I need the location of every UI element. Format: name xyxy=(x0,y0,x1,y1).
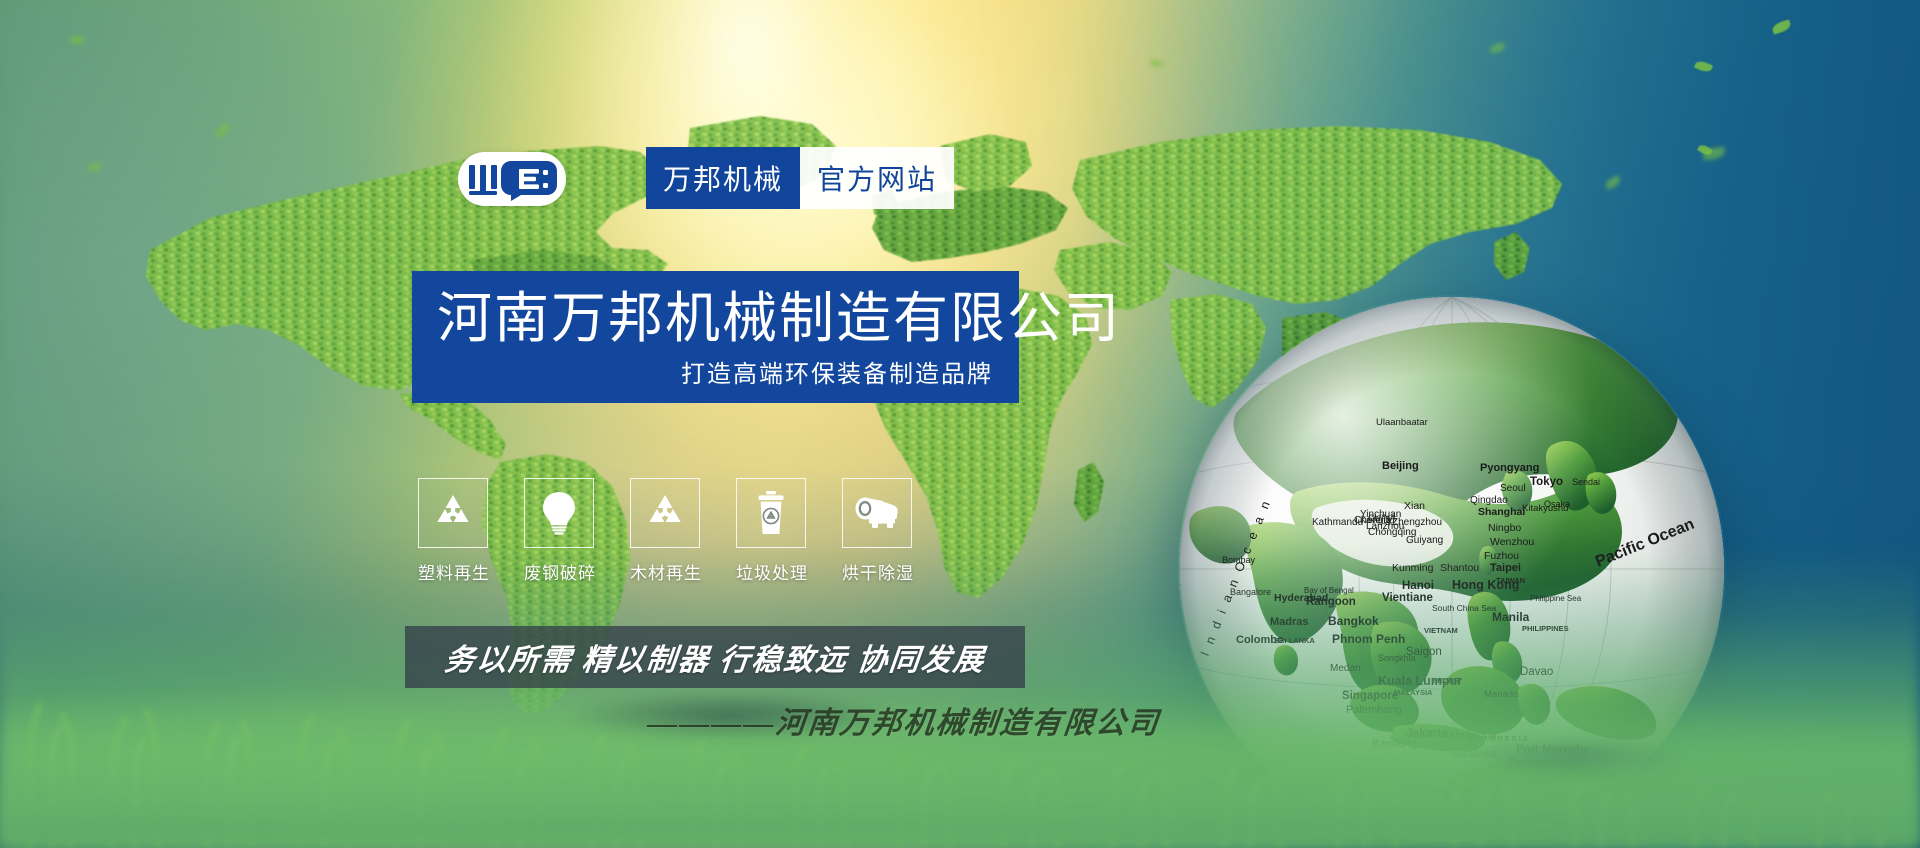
svg-text:Wenzhou: Wenzhou xyxy=(1490,536,1534,548)
brand-tabs[interactable]: 万邦机械 官方网站 xyxy=(646,147,954,209)
lightbulb-icon xyxy=(539,490,579,536)
service-label: 废钢破碎 xyxy=(524,559,594,584)
dryer-blower-icon xyxy=(853,496,901,530)
tab-company-name[interactable]: 万邦机械 xyxy=(646,147,800,209)
service-label: 塑料再生 xyxy=(418,559,488,584)
svg-text:Shanghai: Shanghai xyxy=(1478,506,1525,518)
svg-text:Sendai: Sendai xyxy=(1572,477,1600,487)
service-item-drying-dehumidifying[interactable]: 烘干除湿 xyxy=(842,478,912,584)
tab-official-site[interactable]: 官方网站 xyxy=(800,147,954,209)
svg-text:Beijing: Beijing xyxy=(1382,460,1419,472)
service-label: 垃圾处理 xyxy=(736,559,806,584)
slogan-attribution: ————河南万邦机械制造有限公司 xyxy=(646,698,1171,742)
slogan-banner: 务以所需 精以制器 行稳致远 协同发展 xyxy=(405,626,1025,688)
svg-text:Ulaanbaatar: Ulaanbaatar xyxy=(1376,417,1428,428)
service-icon-box[interactable] xyxy=(842,478,912,548)
service-icon-box[interactable] xyxy=(630,478,700,548)
svg-text:Kathmandu: Kathmandu xyxy=(1312,517,1363,528)
logo-b-bubble xyxy=(501,161,557,201)
service-icon-row: 塑料再生 废钢破碎 xyxy=(418,478,912,584)
service-item-plastic-recycling[interactable]: 塑料再生 xyxy=(418,478,488,584)
slogan-text: 务以所需 精以制器 行稳致远 协同发展 xyxy=(442,635,987,679)
svg-text:Ningbo: Ningbo xyxy=(1488,522,1521,534)
service-icon-box[interactable] xyxy=(524,478,594,548)
logo-bar[interactable] xyxy=(458,152,566,206)
hero-title: 河南万邦机械制造有限公司 xyxy=(437,291,1121,346)
service-icon-box[interactable] xyxy=(736,478,806,548)
logo-w-glyph xyxy=(469,165,497,195)
hero-subtitle: 打造高端环保装备制造品牌 xyxy=(681,363,993,387)
hero-title-text: 河南万邦机械制造有限公司 打造高端环保装备制造品牌 xyxy=(412,271,1019,403)
service-label: 木材再生 xyxy=(630,559,700,584)
service-item-wood-recycling[interactable]: 木材再生 xyxy=(630,478,700,584)
recycle-icon xyxy=(431,491,475,535)
svg-text:Pyongyang: Pyongyang xyxy=(1480,462,1539,474)
service-item-scrap-steel-crushing[interactable]: 废钢破碎 xyxy=(524,478,594,584)
trash-bin-icon xyxy=(754,490,788,536)
recycle-icon xyxy=(643,491,687,535)
service-item-waste-treatment[interactable]: 垃圾处理 xyxy=(736,478,806,584)
svg-text:Qingdao: Qingdao xyxy=(1470,495,1508,506)
svg-text:Guiyang: Guiyang xyxy=(1406,535,1443,546)
svg-text:Tokyo: Tokyo xyxy=(1530,476,1563,488)
svg-text:Seoul: Seoul xyxy=(1500,483,1526,494)
svg-text:Kitakyushu: Kitakyushu xyxy=(1522,503,1568,514)
service-label: 烘干除湿 xyxy=(842,559,912,584)
svg-text:Xian: Xian xyxy=(1404,500,1425,512)
hero-banner: Ulaanbaatar Beijing Pyongyang Seoul Toky… xyxy=(0,0,1920,848)
wanbang-logo-mark[interactable] xyxy=(458,152,566,206)
service-icon-box[interactable] xyxy=(418,478,488,548)
